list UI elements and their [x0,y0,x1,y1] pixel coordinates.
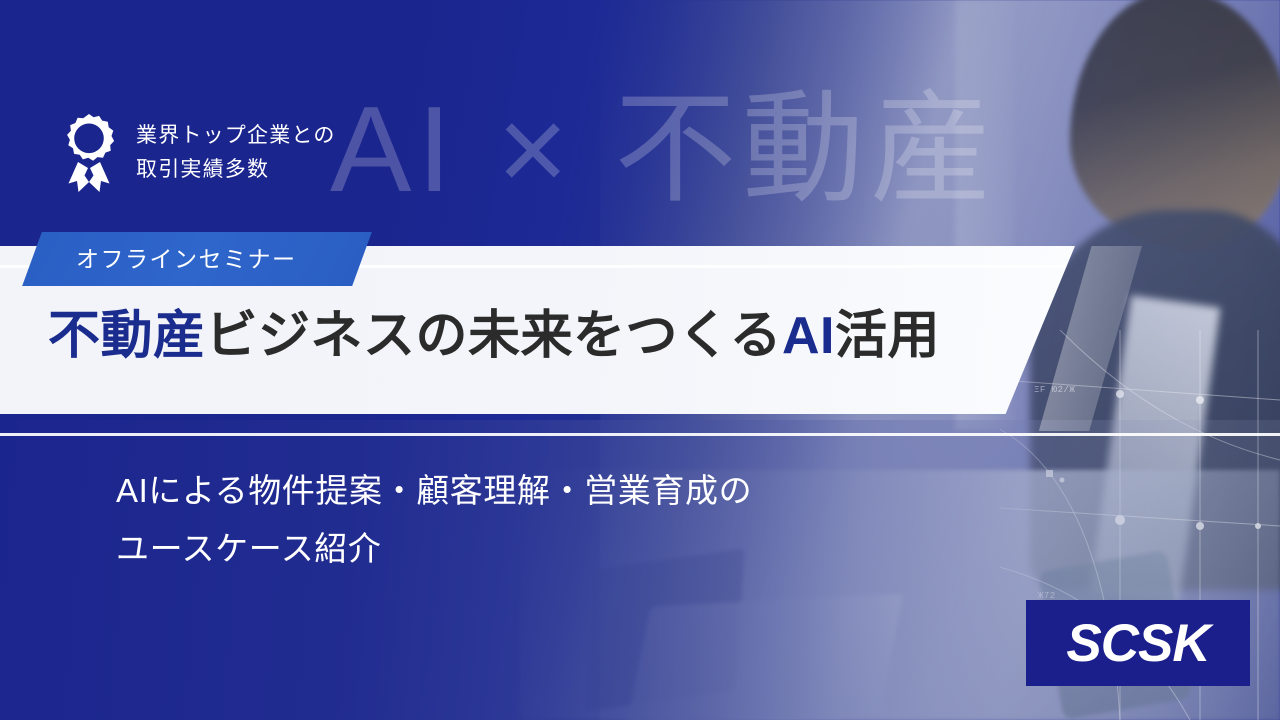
credential-text: 業界トップ企業との 取引実績多数 [136,119,336,187]
seminar-type-badge-label: オフラインセミナー [76,240,297,278]
horizontal-rule [0,433,1280,436]
watermark-text: AI × 不動産 [330,88,998,210]
credential-block: 業界トップ企業との 取引実績多数 [58,110,336,196]
title-segment-4: 活用 [835,307,940,365]
title-segment-2: ビジネスの未来をつくる [206,307,782,365]
medal-ribbon-icon [58,110,120,196]
scsk-logo: SCSK [1026,600,1250,686]
subtitle-text: AIによる物件提案・顧客理解・営業育成の ユースケース紹介 [116,462,752,578]
title-segment-1: 不動産 [48,307,206,365]
page-title: 不動産ビジネスの未来をつくるAI活用 [48,300,940,372]
scsk-logo-text: SCSK [1066,617,1209,670]
seminar-banner: ΞF Ю2/Ж Ж72 AI × 不動産 業界トップ企業との 取引実績多数 オフ… [0,0,1280,720]
title-segment-3: AI [782,307,835,365]
